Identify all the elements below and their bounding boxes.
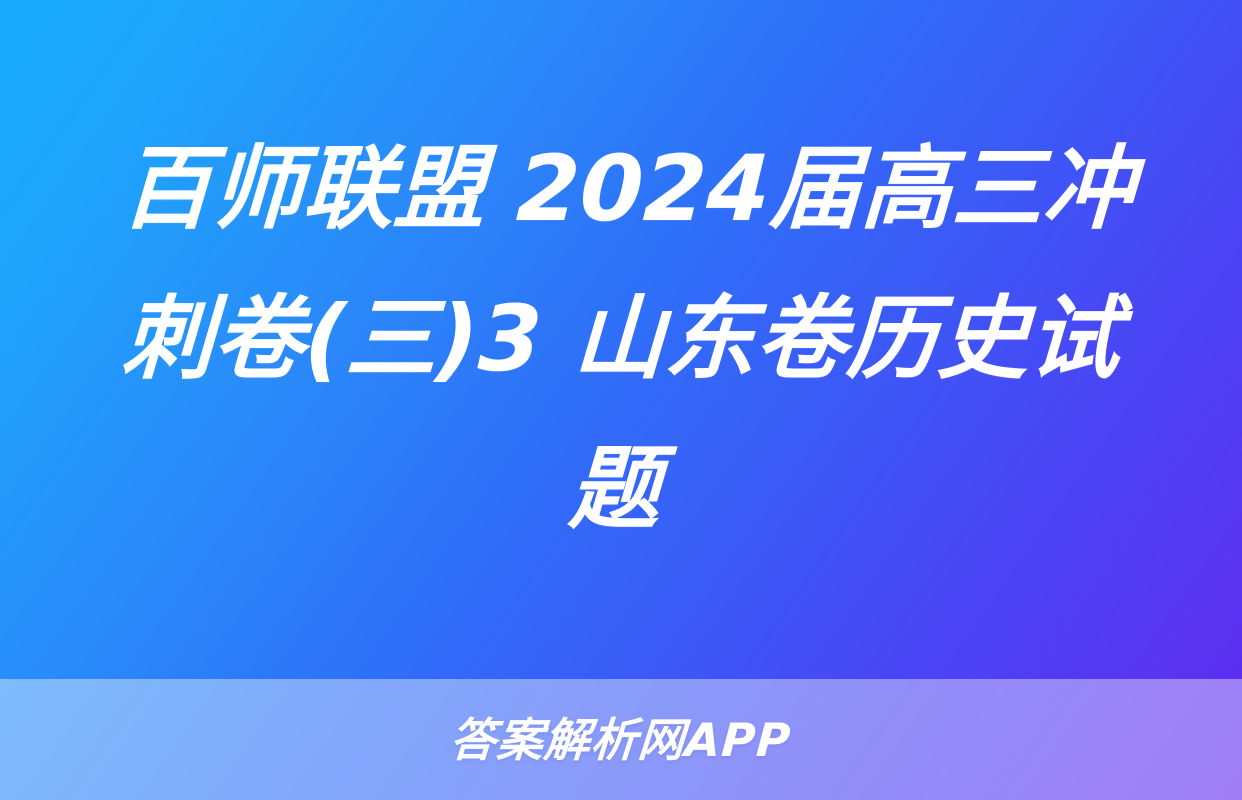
headline-area: 百师联盟 2024届高三冲刺卷(三)3 山东卷历史试题 [0,0,1242,679]
watermark-band: 答案解析网APP [0,679,1242,800]
app-watermark-label: 答案解析网APP [449,717,793,763]
page-title: 百师联盟 2024届高三冲刺卷(三)3 山东卷历史试题 [68,115,1174,565]
poster-canvas: 百师联盟 2024届高三冲刺卷(三)3 山东卷历史试题 答案解析网APP [0,0,1242,800]
